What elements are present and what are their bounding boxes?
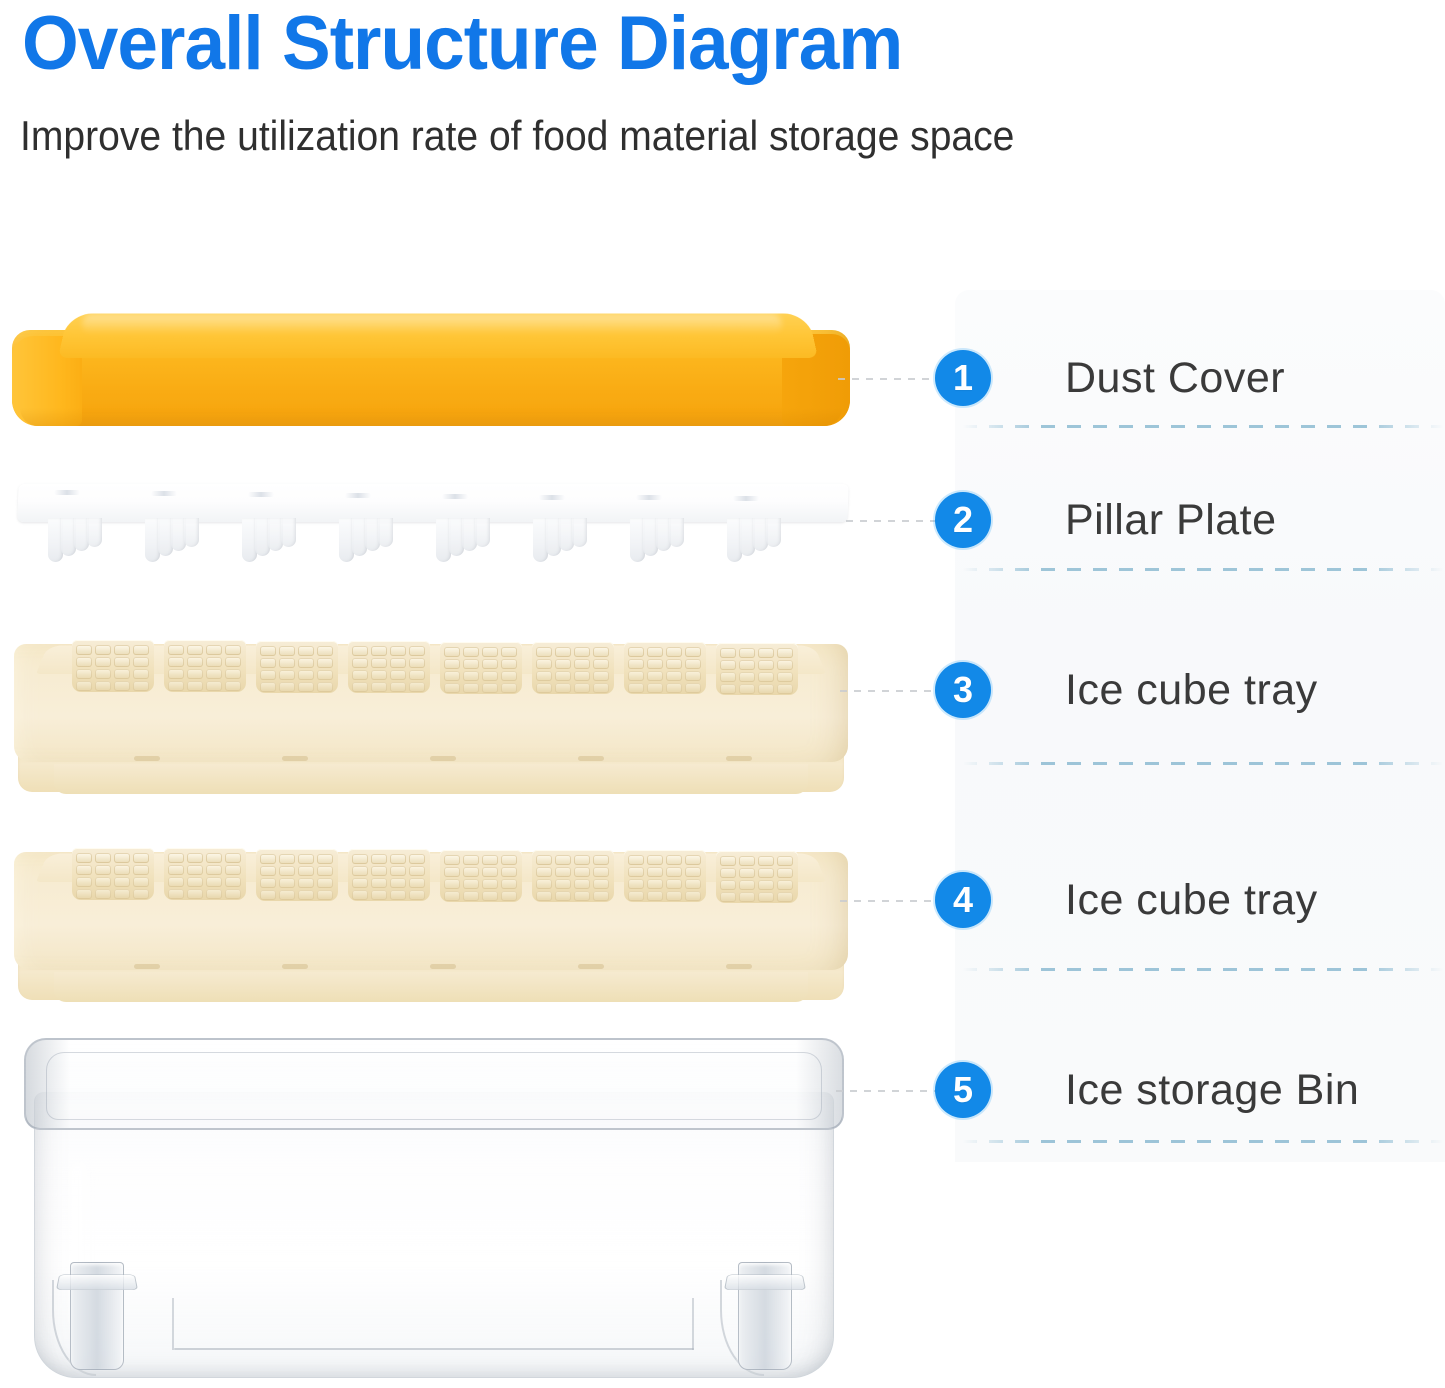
tray-cube-cell [317, 682, 333, 692]
tray-cube-cell [279, 670, 295, 680]
tray-cube-cell [758, 684, 774, 694]
tray-cube-cell [647, 683, 663, 693]
tray-cube-cell [647, 647, 663, 657]
tray-cube-column [164, 640, 246, 692]
tray-cube-cell [685, 683, 701, 693]
tray-cube-cell [114, 853, 130, 863]
tray-cube-cell [628, 891, 644, 901]
tray-cube-cell [187, 865, 203, 875]
tray-cube-cell [501, 683, 517, 693]
tray-cube-cell [501, 671, 517, 681]
tray-cube-cell [133, 669, 149, 679]
tray-cube-cell [114, 645, 130, 655]
pillar-peg [87, 518, 102, 547]
tray-cube-cell [482, 671, 498, 681]
tray-cube-cell [501, 647, 517, 657]
tray-cube-cell [76, 681, 92, 691]
tray-cube-cell [685, 671, 701, 681]
bin-handle-left [56, 1262, 138, 1378]
tray-cube-cell [574, 671, 590, 681]
tray-cube-cell [409, 866, 425, 876]
tray-cube-cell [536, 879, 552, 889]
bin-rim-right-shade [796, 1040, 842, 1128]
tray-cube-cell [574, 867, 590, 877]
tray-cube-cell [279, 646, 295, 656]
tray-cube-cell [628, 659, 644, 669]
legend-badge-1[interactable]: 1 [935, 350, 991, 406]
tray-cube-cell [95, 681, 111, 691]
tray-cube-cell [409, 878, 425, 888]
tray-cube-cell [555, 671, 571, 681]
tray-cube-cell [777, 856, 793, 866]
tray-cube-cell [168, 657, 184, 667]
tray-cube-cell [463, 855, 479, 865]
tray-cube-cell [409, 854, 425, 864]
tray-cube-cell [501, 879, 517, 889]
legend-divider-5 [963, 1140, 1443, 1143]
tray-cube-cell [409, 646, 425, 656]
bin-floor-tick-left [172, 1298, 174, 1350]
tray-cube-cell [225, 853, 241, 863]
tray-cube-cell [574, 855, 590, 865]
tray-foot-notch [430, 964, 456, 969]
tray-cube-cell [628, 855, 644, 865]
tray-cube-cell [206, 645, 222, 655]
legend-badge-5[interactable]: 5 [935, 1062, 991, 1118]
tray-cube-cell [720, 660, 736, 670]
legend-divider-4 [963, 968, 1443, 971]
pillar-cluster [630, 518, 722, 566]
pillar-plate-part [18, 478, 848, 566]
tray-cube-cell [279, 854, 295, 864]
tray-cube-cell [482, 891, 498, 901]
tray-cube-cell [574, 683, 590, 693]
tray-cube-cell [593, 879, 609, 889]
tray-cube-cell [225, 681, 241, 691]
tray-cube-cell [758, 856, 774, 866]
tray-foot-notch [430, 756, 456, 761]
tray-cube-cell [739, 880, 755, 890]
tray-cube-cell [225, 657, 241, 667]
tray-cube-cell [206, 681, 222, 691]
tray-cube-cell [574, 891, 590, 901]
tray-cube-cell [260, 866, 276, 876]
tray-cube-cell [739, 648, 755, 658]
tray-cube-cell [371, 854, 387, 864]
pillar-plate-hole [54, 490, 80, 495]
tray-cube-cell [187, 877, 203, 887]
tray-cube-cell [95, 657, 111, 667]
tray-foot-notch [282, 756, 308, 761]
tray-cube-cell [390, 646, 406, 656]
tray-foot-lip [54, 764, 808, 794]
tray-cube-cell [298, 890, 314, 900]
tray-cube-cell [390, 890, 406, 900]
tray-cube-cell [133, 865, 149, 875]
tray-cube-cell [95, 889, 111, 899]
tray-cube-cell [390, 682, 406, 692]
tray-cube-cell [666, 683, 682, 693]
tray-cube-cell [536, 867, 552, 877]
tray-cube-cell [260, 682, 276, 692]
ice-storage-bin-part [24, 1030, 844, 1378]
tray-cube-cell [685, 647, 701, 657]
tray-cube-cell [758, 660, 774, 670]
tray-cube-cell [555, 647, 571, 657]
tray-cube-cell [390, 878, 406, 888]
tray-cube-cell [371, 682, 387, 692]
tray-foot-notch [726, 964, 752, 969]
bin-handle-right-top [724, 1275, 806, 1290]
tray-cube-cell [482, 867, 498, 877]
tray-cube-cell [279, 890, 295, 900]
tray-cube-column [624, 850, 706, 902]
tray-cube-cell [777, 660, 793, 670]
tray-cube-column [256, 849, 338, 901]
tray-cube-cell [390, 866, 406, 876]
tray-cube-cell [187, 669, 203, 679]
tray-cube-cell [444, 659, 460, 669]
pillar-plate-hole [248, 492, 274, 497]
tray-cube-cell [685, 659, 701, 669]
tray-cube-cell [260, 646, 276, 656]
tray-cube-cell [168, 853, 184, 863]
tray-cube-cell [593, 891, 609, 901]
tray-cube-cell [352, 854, 368, 864]
tray-cube-cell [133, 657, 149, 667]
tray-cube-cell [444, 683, 460, 693]
legend-divider-3 [963, 762, 1443, 765]
tray-cube-cell [390, 670, 406, 680]
dust-cover-part [12, 306, 850, 426]
tray-cube-cell [95, 645, 111, 655]
tray-cube-cell [409, 670, 425, 680]
tray-cube-cell [685, 879, 701, 889]
tray-cube-cell [206, 877, 222, 887]
pillar-peg [281, 518, 296, 547]
tray-cube-cell [206, 865, 222, 875]
tray-cube-cell [317, 866, 333, 876]
tray-cube-cell [628, 867, 644, 877]
legend-label-3: Ice cube tray [1065, 662, 1318, 718]
tray-cube-cell [739, 892, 755, 902]
tray-cube-cell [133, 877, 149, 887]
tray-cube-cell [168, 669, 184, 679]
legend-label-4: Ice cube tray [1065, 872, 1318, 928]
tray-cube-column [532, 850, 614, 902]
tray-cube-cell [574, 879, 590, 889]
tray-cube-cell [720, 880, 736, 890]
tray-cube-cell [647, 867, 663, 877]
dust-cover-highlight [82, 314, 782, 334]
tray-cube-cell [593, 659, 609, 669]
tray-cube-cell [758, 648, 774, 658]
tray-cube-cell [95, 669, 111, 679]
tray-cube-cell [463, 683, 479, 693]
tray-cube-column [716, 643, 798, 695]
tray-cube-cell [628, 879, 644, 889]
leader-line-4 [840, 900, 948, 902]
pillar-peg [184, 518, 199, 547]
tray-cube-cell [647, 659, 663, 669]
leader-line-5 [836, 1090, 948, 1092]
tray-cube-cell [95, 853, 111, 863]
legend-panel: 1Dust Cover2Pillar Plate3Ice cube tray4I… [955, 290, 1445, 1162]
tray-cube-cell [482, 659, 498, 669]
tray-cube-cell [555, 659, 571, 669]
tray-cube-cell [260, 854, 276, 864]
tray-cube-cell [225, 669, 241, 679]
legend-badge-4[interactable]: 4 [935, 872, 991, 928]
tray-cube-cell [390, 658, 406, 668]
tray-cube-cell [593, 671, 609, 681]
bin-body [34, 1092, 834, 1378]
tray-cube-cell [317, 658, 333, 668]
tray-cube-cell [593, 855, 609, 865]
pillar-cluster [339, 518, 431, 566]
tray-cube-column [440, 850, 522, 902]
tray-cube-cell [444, 647, 460, 657]
tray-cube-cell [501, 659, 517, 669]
tray-cube-cell [720, 648, 736, 658]
tray-cube-cell [555, 855, 571, 865]
tray-cube-column [624, 642, 706, 694]
tray-cube-cell [628, 671, 644, 681]
tray-cube-cell [739, 856, 755, 866]
tray-cube-cell [298, 670, 314, 680]
tray-cube-cell [647, 671, 663, 681]
tray-cube-cell [76, 853, 92, 863]
tray-cube-cell [298, 854, 314, 864]
tray-cube-cell [685, 855, 701, 865]
tray-cube-cell [574, 647, 590, 657]
exploded-view-illustration [0, 0, 955, 1388]
pillar-plate-hole [733, 496, 759, 501]
legend-divider-1 [963, 425, 1443, 428]
tray-cube-cell [593, 867, 609, 877]
leader-line-2 [846, 520, 948, 522]
tray-cube-cell [114, 889, 130, 899]
tray-cube-cell [685, 891, 701, 901]
legend-label-1: Dust Cover [1065, 350, 1285, 406]
tray-cube-cell [114, 877, 130, 887]
tray-cube-cell [463, 867, 479, 877]
tray-cube-cell [647, 855, 663, 865]
tray-cube-cell [76, 645, 92, 655]
tray-cube-cell [444, 879, 460, 889]
tray-cube-cell [758, 892, 774, 902]
pillar-cluster [727, 518, 819, 566]
bin-rim-left-shade [26, 1040, 70, 1128]
pillar-cluster [242, 518, 334, 566]
tray-cube-cell [279, 866, 295, 876]
tray-cube-cell [482, 683, 498, 693]
bin-handle-right [724, 1262, 806, 1378]
tray-cube-cell [758, 880, 774, 890]
tray-cube-cell [76, 669, 92, 679]
tray-cube-cell [352, 890, 368, 900]
tray-cube-cell [482, 879, 498, 889]
legend-divider-2 [963, 568, 1443, 571]
tray-cube-cell [463, 671, 479, 681]
tray-cube-cell [260, 658, 276, 668]
tray-cube-cell [371, 866, 387, 876]
tray-cube-cell [76, 657, 92, 667]
tray-cube-cell [279, 682, 295, 692]
tray-cube-column [164, 848, 246, 900]
tray-cube-column [532, 642, 614, 694]
tray-foot-notch [578, 964, 604, 969]
pillar-peg [475, 518, 490, 547]
pillar-plate-hole [636, 495, 662, 500]
tray-cube-cell [463, 879, 479, 889]
tray-cube-cell [463, 891, 479, 901]
tray-rim [36, 646, 826, 674]
tray-cube-cell [187, 889, 203, 899]
bin-handle-left-top [56, 1275, 138, 1290]
tray-cube-cell [206, 889, 222, 899]
tray-cube-cell [720, 868, 736, 878]
tray-cube-cell [555, 879, 571, 889]
tray-cube-cell [298, 878, 314, 888]
tray-cube-cell [260, 890, 276, 900]
tray-cube-cell [685, 867, 701, 877]
pillar-plate-hole [345, 493, 371, 498]
legend-badge-3[interactable]: 3 [935, 662, 991, 718]
tray-cube-cell [666, 659, 682, 669]
tray-cube-cell [409, 658, 425, 668]
tray-cube-cell [444, 891, 460, 901]
tray-cube-cell [371, 670, 387, 680]
pillar-peg [669, 518, 684, 547]
tray-cube-cell [720, 672, 736, 682]
pillar-plate-hole [442, 494, 468, 499]
tray-cube-cell [317, 890, 333, 900]
tray-cube-cell [114, 657, 130, 667]
tray-cube-cell [352, 670, 368, 680]
tray-cube-cell [501, 891, 517, 901]
tray-cube-cell [666, 855, 682, 865]
tray-cube-cell [260, 878, 276, 888]
tray-cube-cell [482, 855, 498, 865]
tray-cube-cell [317, 854, 333, 864]
tray-cube-cell [444, 867, 460, 877]
tray-cube-cell [206, 853, 222, 863]
tray-cube-cell [409, 890, 425, 900]
tray-cube-cell [758, 868, 774, 878]
pillar-peg [378, 518, 393, 547]
tray-cube-cell [298, 658, 314, 668]
tray-cube-cell [593, 683, 609, 693]
tray-cube-cell [352, 878, 368, 888]
tray-cube-cell [133, 853, 149, 863]
pillar-plate-hole [151, 491, 177, 496]
tray-cube-cell [133, 681, 149, 691]
tray-cube-cell [555, 683, 571, 693]
tray-cube-cell [279, 658, 295, 668]
tray-cube-cell [666, 879, 682, 889]
tray-cube-cell [536, 671, 552, 681]
tray-cube-cell [409, 682, 425, 692]
tray-cube-cell [593, 647, 609, 657]
pillar-peg [572, 518, 587, 547]
tray-cube-cell [720, 684, 736, 694]
tray-cube-cell [187, 681, 203, 691]
tray-cube-cell [168, 889, 184, 899]
tray-foot-notch [726, 756, 752, 761]
tray-cube-cell [666, 647, 682, 657]
tray-cube-cell [133, 645, 149, 655]
pillar-peg [766, 518, 781, 547]
tray-cube-cell [371, 890, 387, 900]
tray-cube-cell [501, 867, 517, 877]
tray-cube-cell [371, 878, 387, 888]
tray-cube-cell [666, 671, 682, 681]
tray-cube-column [440, 642, 522, 694]
tray-cube-cell [187, 645, 203, 655]
tray-cube-cell [758, 672, 774, 682]
bin-floor-line [174, 1348, 694, 1350]
tray-cube-cell [739, 684, 755, 694]
dust-cover-bottom-shadow [20, 408, 842, 426]
tray-cube-cell [76, 865, 92, 875]
tray-cube-cell [317, 878, 333, 888]
bin-rim-inner [46, 1052, 822, 1120]
legend-label-5: Ice storage Bin [1065, 1062, 1359, 1118]
tray-cube-cell [114, 669, 130, 679]
tray-cube-cell [114, 865, 130, 875]
ice-cube-tray-upper-part [14, 614, 848, 796]
tray-cube-cell [739, 868, 755, 878]
tray-cube-cell [666, 891, 682, 901]
pillar-cluster [48, 518, 140, 566]
tray-cube-cell [168, 681, 184, 691]
tray-cube-cell [536, 855, 552, 865]
tray-foot-notch [134, 756, 160, 761]
tray-cube-cell [371, 658, 387, 668]
tray-cube-column [72, 848, 154, 900]
tray-cube-cell [390, 854, 406, 864]
ice-cube-tray-lower-part [14, 822, 848, 1004]
tray-cube-cell [536, 659, 552, 669]
legend-badge-2[interactable]: 2 [935, 492, 991, 548]
tray-cube-cell [777, 648, 793, 658]
tray-cube-cell [133, 889, 149, 899]
tray-cube-cell [225, 865, 241, 875]
tray-cube-cell [777, 672, 793, 682]
tray-cube-cell [647, 891, 663, 901]
tray-cube-cell [628, 647, 644, 657]
tray-cube-cell [536, 683, 552, 693]
tray-cube-cell [628, 683, 644, 693]
tray-cube-cell [574, 659, 590, 669]
pillar-cluster [145, 518, 237, 566]
tray-cube-cell [95, 877, 111, 887]
tray-cube-cell [555, 867, 571, 877]
tray-cube-cell [168, 645, 184, 655]
tray-cube-cell [168, 877, 184, 887]
tray-cube-cell [317, 646, 333, 656]
tray-cube-cell [168, 865, 184, 875]
pillar-plate-hole [539, 495, 565, 500]
leader-line-1 [838, 378, 948, 380]
tray-foot-notch [282, 964, 308, 969]
tray-cube-cell [536, 647, 552, 657]
tray-cube-cell [225, 645, 241, 655]
bin-floor-tick-right [692, 1298, 694, 1350]
tray-cube-cell [76, 889, 92, 899]
tray-cube-cell [777, 684, 793, 694]
